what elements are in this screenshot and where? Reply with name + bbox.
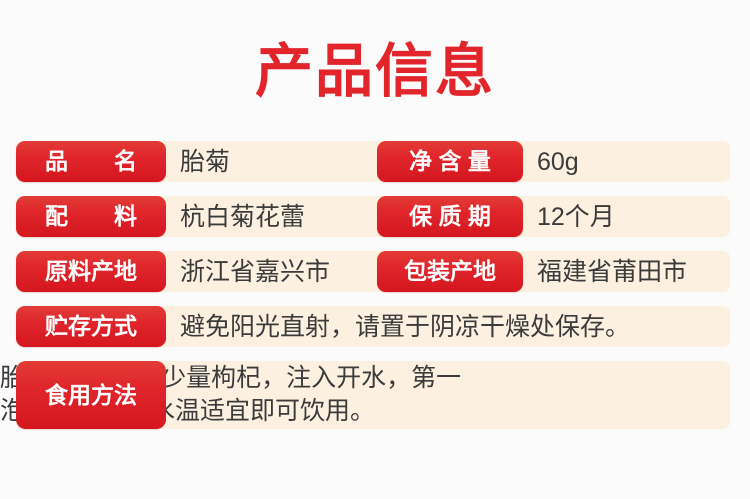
label-text: 净 含 量 <box>409 150 491 173</box>
info-rows: 品 名 胎菊 净 含 量 60g 配 料 杭白菊花蕾 保 质 期 12个月 原料 <box>0 141 750 443</box>
label-pill-net-content: 净 含 量 <box>377 141 523 182</box>
table-row: 贮存方式 避免阳光直射，请置于阴凉干燥处保存。 <box>0 306 750 347</box>
table-row: 品 名 胎菊 净 含 量 60g <box>0 141 750 182</box>
value-packaging-origin: 福建省莆田市 <box>537 251 687 292</box>
label-text: 食用方法 <box>45 384 137 407</box>
label-text: 品 名 <box>45 150 137 173</box>
label-text: 保 质 期 <box>409 205 491 228</box>
value-net-content: 60g <box>537 141 579 182</box>
label-pill-shelf-life: 保 质 期 <box>377 196 523 237</box>
label-pill-packaging-origin: 包装产地 <box>377 251 523 292</box>
label-text: 原料产地 <box>45 260 137 283</box>
table-row: 原料产地 浙江省嘉兴市 包装产地 福建省莆田市 <box>0 251 750 292</box>
page-title-container: 产品信息 <box>0 40 750 104</box>
label-text: 配 料 <box>45 205 137 228</box>
label-pill-storage-method: 贮存方式 <box>16 306 166 347</box>
value-material-origin: 浙江省嘉兴市 <box>180 251 330 292</box>
label-text: 包装产地 <box>404 260 496 283</box>
value-storage-method: 避免阳光直射，请置于阴凉干燥处保存。 <box>180 306 630 347</box>
product-info-page: 产品信息 品 名 胎菊 净 含 量 60g 配 料 杭白菊花蕾 保 质 期 <box>0 0 750 499</box>
label-pill-ingredients: 配 料 <box>16 196 166 237</box>
label-pill-usage-method: 食用方法 <box>16 361 166 429</box>
value-shelf-life: 12个月 <box>537 196 615 237</box>
value-ingredients: 杭白菊花蕾 <box>180 196 305 237</box>
table-row: 配 料 杭白菊花蕾 保 质 期 12个月 <box>0 196 750 237</box>
table-row: 食用方法 胎菊6-8朵，取少量枸杞，注入开水，第一 泡冲洗，静至水温适宜即可饮用… <box>0 361 750 429</box>
page-title: 产品信息 <box>255 40 495 104</box>
label-pill-material-origin: 原料产地 <box>16 251 166 292</box>
label-text: 贮存方式 <box>45 315 137 338</box>
label-pill-product-name: 品 名 <box>16 141 166 182</box>
value-product-name: 胎菊 <box>180 141 230 182</box>
